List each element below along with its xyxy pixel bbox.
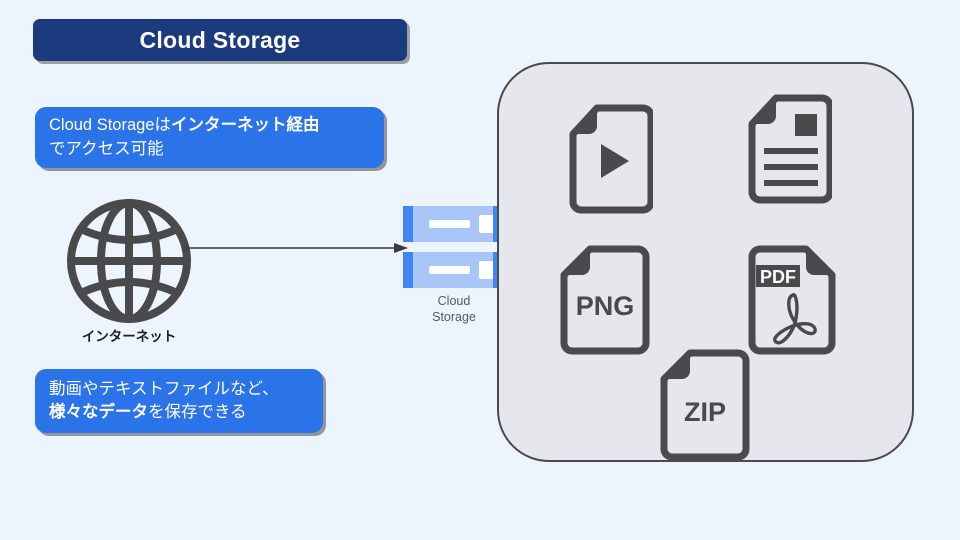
pdf-file-label: PDF (760, 267, 796, 287)
callout-access-line2-normal: でアクセス可能 (49, 140, 164, 158)
callout-store: 動画やテキストファイルなど、様々なデータを保存できる (35, 369, 323, 433)
zip-file-label: ZIP (684, 397, 726, 427)
callout-access-text: Cloud Storageはインターネット経由でアクセス可能 (35, 114, 334, 161)
page-title: Cloud Storage (139, 29, 300, 52)
rack-cap-left (403, 252, 413, 288)
callout-store-text: 動画やテキストファイルなど、様々なデータを保存できる (35, 378, 293, 425)
video-file-icon-svg (567, 104, 653, 214)
callout-store-line1-normal: 動画やテキストファイルなど、 (49, 380, 279, 398)
pdf-file-icon-svg: PDF (746, 245, 838, 355)
png-file-label: PNG (576, 291, 635, 321)
text-document-file-icon-svg (746, 94, 832, 204)
callout-access-line1-bold: インターネット経由 (171, 116, 320, 134)
png-file-icon: PNG (558, 245, 650, 360)
internet-label: インターネット (46, 325, 212, 345)
server-rack-icon (403, 206, 505, 288)
rack-cap-left (403, 206, 413, 242)
zip-file-icon-svg: ZIP (658, 349, 750, 461)
server-rack-unit-top (403, 206, 505, 242)
callout-store-line2-bold: 様々なデータ (49, 403, 148, 421)
server-label: Cloud Storage (403, 293, 505, 325)
server-rack-unit-bottom (403, 252, 505, 288)
video-file-icon (567, 104, 653, 219)
zip-file-icon: ZIP (658, 349, 750, 466)
globe-icon (64, 196, 194, 326)
rack-led-bar (429, 220, 470, 228)
pdf-file-icon: PDF (746, 245, 838, 360)
slide-title-banner: Cloud Storage (33, 19, 407, 61)
png-file-icon-svg: PNG (558, 245, 650, 355)
callout-store-line2-normal: を保存できる (148, 403, 247, 421)
callout-access: Cloud Storageはインターネット経由でアクセス可能 (35, 107, 384, 168)
globe-icon-svg (64, 196, 194, 326)
callout-access-line1-normal: Cloud Storageは (49, 116, 171, 134)
text-document-file-icon (746, 94, 832, 209)
slide-canvas: Cloud Storage Cloud Storageはインターネット経由でアク… (0, 0, 960, 540)
arrow-right-icon (186, 234, 408, 262)
acrobat-swirl-icon (775, 295, 815, 343)
rack-led-bar (429, 266, 470, 274)
